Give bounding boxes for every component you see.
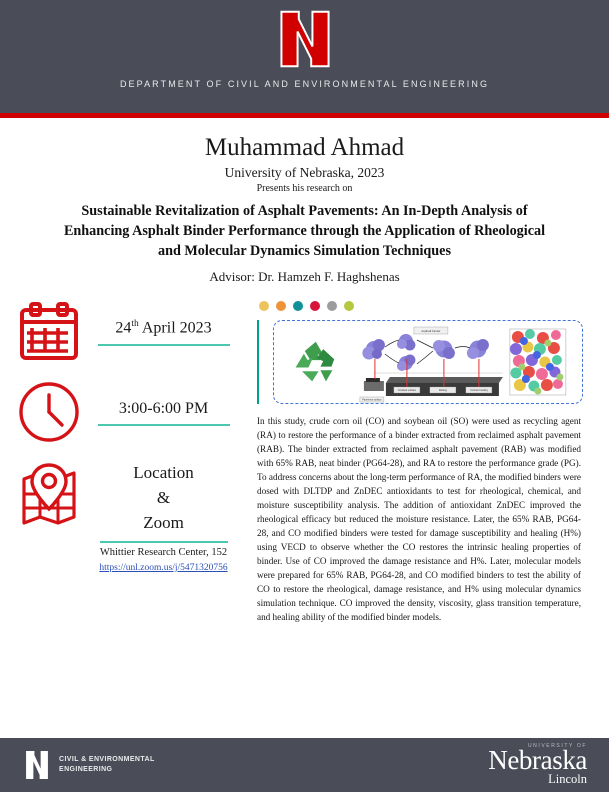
advisor-name: Advisor: Dr. Hamzeh F. Haghshenas [52, 269, 557, 285]
date-row: 24th April 2023 [6, 301, 253, 363]
event-date: 24th April 2023 [92, 318, 235, 344]
presenter-affiliation: University of Nebraska, 2023 [52, 165, 557, 181]
dot-6 [344, 301, 354, 311]
svg-text:Asphalt binder: Asphalt binder [422, 329, 441, 333]
location-text-wrap: Location & Zoom Whittier Research Center… [92, 461, 253, 573]
footer-nebraska-wordmark: Nebraska [488, 748, 587, 774]
dot-1 [259, 301, 269, 311]
footer-dept-line2: ENGINEERING [59, 765, 155, 775]
date-rest: April 2023 [139, 320, 212, 337]
time-row: 3:00-6:00 PM [6, 381, 253, 443]
location-row: Location & Zoom Whittier Research Center… [6, 461, 253, 573]
molecule-clusters [363, 334, 490, 371]
recycle-symbol [296, 342, 335, 382]
location-label-location: Location [92, 461, 235, 486]
calendar-icon [6, 302, 92, 362]
venue-address: Whittier Research Center, 152 [92, 547, 235, 558]
footer-branding-left: CIVIL & ENVIRONMENTAL ENGINEERING [24, 749, 155, 781]
map-pin-icon [6, 461, 92, 527]
time-underline [98, 424, 230, 426]
zoom-meeting-link[interactable]: https://unl.zoom.us/j/5471320756 [92, 563, 235, 573]
date-ordinal: th [131, 319, 138, 329]
location-label-ampersand: & [92, 486, 235, 511]
nebraska-n-logo-icon [274, 8, 336, 70]
svg-text:Melting: Melting [439, 389, 448, 392]
page-footer: CIVIL & ENVIRONMENTAL ENGINEERING UNIVER… [0, 738, 609, 792]
footer-n-logo-icon [24, 749, 50, 781]
decorative-dots [257, 301, 583, 311]
svg-text:Pavement surface: Pavement surface [362, 399, 382, 402]
research-title: Sustainable Revitalization of Asphalt Pa… [52, 201, 557, 261]
location-labels: Location & Zoom [92, 461, 235, 535]
abstract-text: In this study, crude corn oil (CO) and s… [257, 415, 583, 625]
footer-dept-line1: CIVIL & ENVIRONMENTAL [59, 755, 155, 765]
presents-label: Presents his research on [52, 183, 557, 194]
svg-text:Intrinsic healing: Intrinsic healing [470, 389, 488, 392]
date-text-wrap: 24th April 2023 [92, 318, 253, 346]
location-underline [100, 541, 228, 543]
event-details-column: 24th April 2023 3:00-6:00 PM [0, 301, 253, 738]
dot-2 [276, 301, 286, 311]
research-column: Asphalt binder [253, 301, 609, 738]
title-block: Muhammad Ahmad University of Nebraska, 2… [0, 120, 609, 285]
research-figure-wrap: Asphalt binder [257, 320, 583, 404]
footer-campus-name: Lincoln [488, 773, 587, 787]
content-area: 24th April 2023 3:00-6:00 PM [0, 285, 609, 738]
dot-4 [310, 301, 320, 311]
figure-accent-line [257, 320, 259, 404]
md-simulation-blob [510, 329, 566, 395]
location-label-zoom: Zoom [92, 511, 235, 536]
page-header: DEPARTMENT OF CIVIL AND ENVIRONMENTAL EN… [0, 0, 609, 113]
footer-university-wordmark: UNIVERSITY OF Nebraska Lincoln [488, 743, 587, 787]
flyer-page: DEPARTMENT OF CIVIL AND ENVIRONMENTAL EN… [0, 0, 609, 792]
pavement-slab: Pavement surface Cracked surface Melting… [360, 373, 503, 402]
header-department-text: DEPARTMENT OF CIVIL AND ENVIRONMENTAL EN… [120, 79, 489, 89]
clock-icon [6, 381, 92, 443]
date-day: 24 [115, 320, 131, 337]
footer-department-text: CIVIL & ENVIRONMENTAL ENGINEERING [59, 755, 155, 775]
event-time: 3:00-6:00 PM [92, 399, 235, 425]
research-figure: Asphalt binder [273, 320, 583, 404]
dot-3 [293, 301, 303, 311]
presenter-name: Muhammad Ahmad [52, 134, 557, 163]
time-text-wrap: 3:00-6:00 PM [92, 399, 253, 426]
svg-text:Cracked surface: Cracked surface [398, 389, 417, 392]
date-underline [98, 344, 230, 346]
dot-5 [327, 301, 337, 311]
